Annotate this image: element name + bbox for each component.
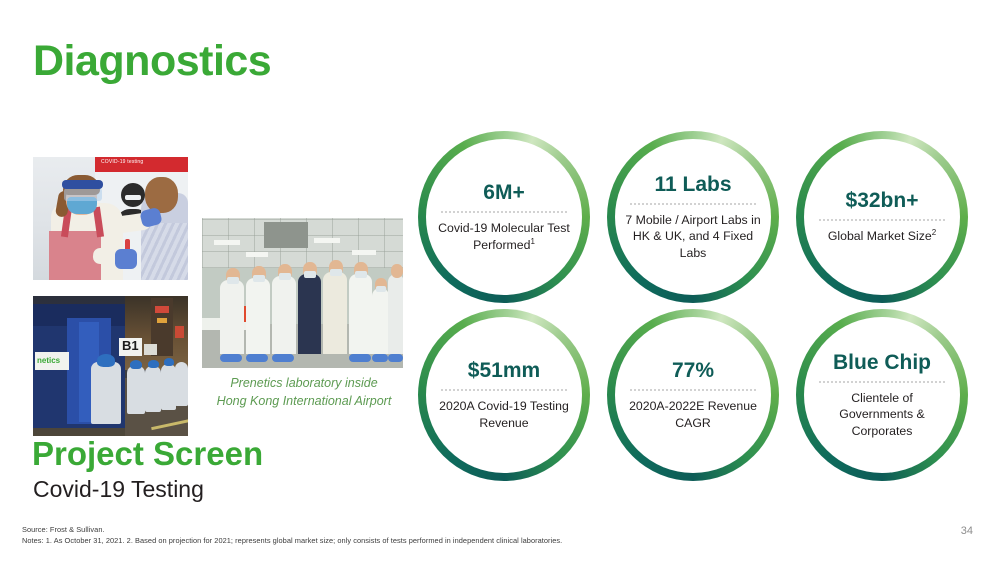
ppe-worker [161, 364, 176, 410]
lab-staff-head [391, 264, 403, 278]
face-mask-icon [253, 275, 265, 282]
patient-garment [141, 223, 188, 280]
ceiling-lamp [352, 250, 376, 255]
ppe-worker [175, 362, 188, 406]
stat-label-text: Covid-19 Molecular Test Performed [438, 221, 570, 251]
lab-staff-member [220, 280, 244, 354]
stat-label: 2020A Covid-19 Testing Revenue [435, 398, 573, 431]
face-shield-visor [64, 188, 102, 201]
stat-circle-revenue: $51mm 2020A Covid-19 Testing Revenue [418, 309, 590, 481]
neon-sign [157, 318, 167, 323]
lab-staff-member [388, 274, 403, 354]
face-shield-band [62, 180, 103, 189]
stat-value: Blue Chip [813, 351, 951, 374]
stat-divider [441, 389, 567, 391]
face-mask-icon [304, 271, 316, 278]
poster-banner-label: COVID-19 testing [101, 159, 143, 165]
lab-photo-scene [202, 218, 403, 368]
stat-circle-content: $51mm 2020A Covid-19 Testing Revenue [435, 359, 573, 431]
ceiling-lamp [246, 252, 268, 257]
face-mask-icon [279, 273, 291, 280]
ppe-worker [91, 362, 121, 424]
swab-photo-scene: COVID-19 testing Remove [33, 157, 188, 280]
worker-helmet [148, 360, 159, 368]
stat-divider [819, 381, 945, 383]
tent-brand-label: netics [37, 356, 60, 365]
face-mask-icon [227, 277, 239, 284]
stat-label-text: 2020A-2022E Revenue CAGR [629, 399, 757, 429]
stat-circle-grid: 6M+ Covid-19 Molecular Test Performed1 1… [418, 131, 988, 481]
stat-label: Covid-19 Molecular Test Performed1 [435, 220, 573, 253]
lab-staff-member [246, 278, 270, 354]
covid-swab-testing-photo: COVID-19 testing Remove [33, 157, 188, 280]
stat-value: $32bn+ [813, 189, 951, 212]
stat-footnote-marker: 2 [932, 228, 936, 237]
project-title: Project Screen [32, 437, 263, 470]
stat-value: 6M+ [435, 181, 573, 204]
night-testing-tent-photo: netics B1 [33, 296, 188, 436]
ppe-worker [145, 366, 161, 412]
stat-value: 77% [624, 359, 762, 382]
stat-circle-content: 11 Labs 7 Mobile / Airport Labs in HK & … [624, 173, 762, 261]
shoe-cover [388, 354, 403, 362]
stat-value: 11 Labs [624, 173, 762, 196]
lab-team-group-photo [202, 218, 403, 368]
stat-circle-content: $32bn+ Global Market Size2 [813, 189, 951, 244]
stat-circle-covid-tests: 6M+ Covid-19 Molecular Test Performed1 [418, 131, 590, 303]
stat-divider [441, 211, 567, 213]
photo-caption: Prenetics laboratory inside Hong Kong In… [190, 374, 418, 410]
photo-caption-line1: Prenetics laboratory inside [230, 376, 377, 390]
stat-divider [819, 219, 945, 221]
footnote-source: Source: Frost & Sullivan. [22, 524, 562, 535]
stat-label: Global Market Size2 [813, 228, 951, 244]
stat-circle-labs: 11 Labs 7 Mobile / Airport Labs in HK & … [607, 131, 779, 303]
photo-caption-line2: Hong Kong International Airport [217, 394, 392, 408]
stat-label: 2020A-2022E Revenue CAGR [624, 398, 762, 431]
stat-circle-content: Blue Chip Clientele of Governments & Cor… [813, 351, 951, 439]
lab-staff-member [323, 272, 347, 354]
stat-label-text: 7 Mobile / Airport Labs in HK & UK, and … [625, 213, 760, 260]
stat-divider [630, 389, 756, 391]
patient-head [145, 177, 178, 213]
project-subtitle: Covid-19 Testing [33, 478, 204, 501]
shoe-cover [246, 354, 268, 362]
stat-label: Clientele of Governments & Corporates [813, 390, 951, 439]
shoe-cover [349, 354, 371, 362]
stat-value: $51mm [435, 359, 573, 382]
face-mask-icon [376, 286, 386, 292]
tent-photo-scene: netics B1 [33, 296, 188, 436]
footnote-notes: Notes: 1. As October 31, 2021. 2. Based … [22, 535, 562, 546]
ceiling-lamp [214, 240, 240, 245]
shoe-cover [220, 354, 242, 362]
stat-circle-market-size: $32bn+ Global Market Size2 [796, 131, 968, 303]
zone-label: B1 [122, 339, 139, 352]
worker-helmet [97, 354, 115, 367]
footnotes: Source: Frost & Sullivan. Notes: 1. As O… [22, 524, 562, 547]
stat-circle-content: 6M+ Covid-19 Molecular Test Performed1 [435, 181, 573, 253]
neon-sign [175, 326, 184, 338]
stat-circle-clientele: Blue Chip Clientele of Governments & Cor… [796, 309, 968, 481]
face-mask-icon [355, 271, 367, 278]
stat-label-text: Clientele of Governments & Corporates [839, 391, 924, 438]
ppe-worker [127, 366, 145, 414]
lab-staff-member [372, 288, 389, 354]
stat-divider [630, 203, 756, 205]
stat-circle-content: 77% 2020A-2022E Revenue CAGR [624, 359, 762, 431]
glove-left [115, 249, 137, 269]
stat-label: 7 Mobile / Airport Labs in HK & UK, and … [624, 212, 762, 261]
worker-helmet [164, 358, 174, 366]
stat-footnote-marker: 1 [530, 237, 534, 246]
page-number: 34 [961, 525, 973, 537]
stat-circle-cagr: 77% 2020A-2022E Revenue CAGR [607, 309, 779, 481]
lab-staff-member [298, 274, 321, 354]
page-title: Diagnostics [33, 40, 271, 83]
ceiling-lamp [314, 238, 340, 243]
neon-sign [155, 306, 169, 313]
zone-sign-secondary [144, 344, 157, 355]
ceiling-vent [264, 222, 308, 248]
stat-label-text: Global Market Size [828, 229, 932, 243]
lab-staff-member [272, 276, 296, 354]
shoe-cover [372, 354, 388, 362]
lab-staff-member [349, 274, 372, 354]
stat-label-text: 2020A Covid-19 Testing Revenue [439, 399, 569, 429]
face-mask-icon [330, 269, 342, 276]
worker-helmet [130, 360, 142, 369]
shoe-cover [272, 354, 294, 362]
